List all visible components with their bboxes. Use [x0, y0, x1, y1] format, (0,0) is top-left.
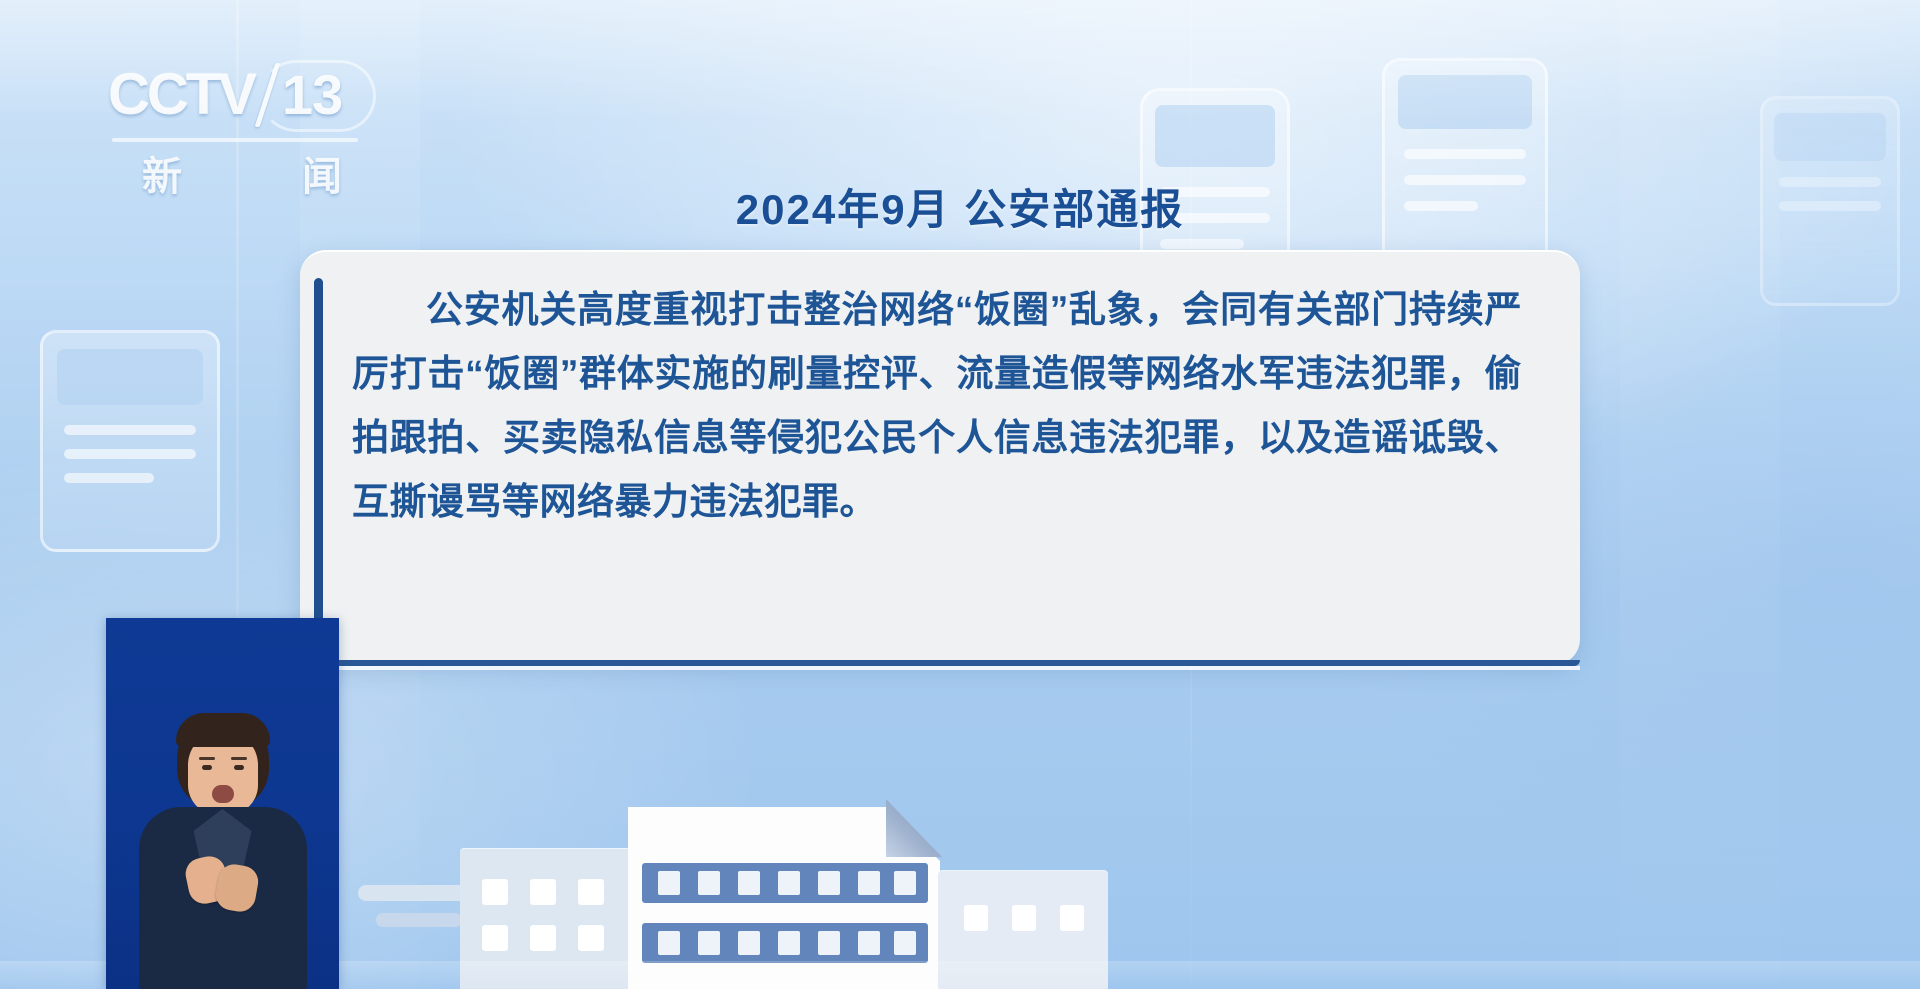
decorative-podium-base	[376, 913, 462, 927]
sign-language-interpreter	[133, 689, 313, 989]
sign-language-interpreter-inset	[106, 618, 339, 989]
building-window	[530, 879, 556, 905]
decorative-bar	[64, 449, 196, 459]
band-window	[658, 931, 680, 955]
interpreter-eye-right	[234, 765, 244, 770]
band-window	[818, 931, 840, 955]
building-window	[964, 905, 988, 931]
statement-text: 公安机关高度重视打击整治网络“饭圈”乱象，会同有关部门持续严厉打击“饭圈”群体实…	[352, 278, 1522, 534]
building-corner-fold	[886, 799, 942, 857]
building-band-upper	[642, 863, 928, 903]
decorative-document-left	[40, 330, 220, 552]
building-window	[578, 879, 604, 905]
building-window	[482, 925, 508, 951]
logo-underline	[112, 138, 358, 142]
band-window	[858, 871, 880, 895]
building-window	[1012, 905, 1036, 931]
interpreter-eyebrow-right	[231, 757, 247, 760]
building-window	[482, 879, 508, 905]
cctv13-channel-logo: CCTV 13 新 闻	[108, 58, 368, 188]
building-band-lower	[642, 923, 928, 963]
decorative-block	[1155, 105, 1276, 167]
broadcast-frame: CCTV 13 新 闻 2024年9月 公安部通报 公安机关高度重视打击整治网络…	[0, 0, 1920, 989]
cctv-wordmark: CCTV	[108, 66, 254, 124]
building-window	[1060, 905, 1084, 931]
band-window	[778, 871, 800, 895]
interpreter-eye-left	[202, 765, 212, 770]
band-window	[658, 871, 680, 895]
interpreter-mouth	[212, 785, 234, 803]
building-window	[578, 925, 604, 951]
band-window	[738, 931, 760, 955]
band-window	[698, 931, 720, 955]
interpreter-eyebrow-left	[199, 757, 215, 760]
band-window	[818, 871, 840, 895]
band-window	[858, 931, 880, 955]
band-window	[698, 871, 720, 895]
band-window	[894, 931, 916, 955]
decorative-block	[57, 349, 203, 405]
headline-title: 2024年9月 公安部通报	[0, 176, 1920, 237]
logo-ring-decoration	[260, 60, 376, 132]
decorative-bar	[64, 425, 196, 435]
statement-card: 公安机关高度重视打击整治网络“饭圈”乱象，会同有关部门持续严厉打击“饭圈”群体实…	[300, 250, 1580, 665]
decorative-bar	[64, 473, 154, 483]
decorative-block	[1398, 75, 1532, 129]
interpreter-hair-front	[176, 713, 270, 747]
decorative-block	[1774, 113, 1887, 161]
band-window	[894, 871, 916, 895]
band-window	[738, 871, 760, 895]
decorative-bar	[1404, 149, 1526, 159]
building-window	[530, 925, 556, 951]
statement-accent-bar	[314, 278, 323, 638]
band-window	[778, 931, 800, 955]
decorative-bar	[1160, 239, 1244, 249]
statement-bottom-rule	[300, 660, 1580, 666]
